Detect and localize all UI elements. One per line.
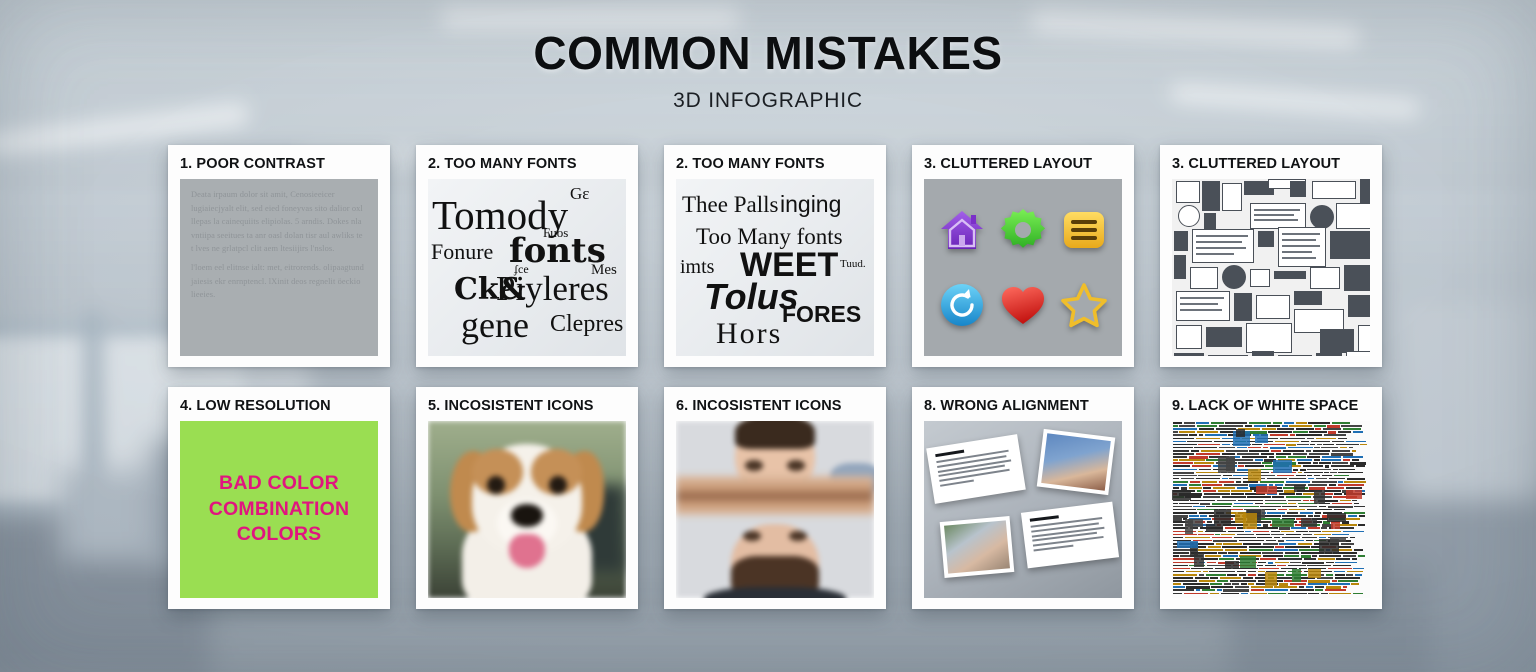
font-word: gene bbox=[461, 307, 529, 343]
font-word: Hors bbox=[716, 319, 782, 349]
dense-text-line bbox=[1282, 506, 1297, 508]
card-title: 2. TOO MANY FONTS bbox=[676, 156, 874, 172]
dense-text-line bbox=[1262, 462, 1272, 464]
dense-text-line bbox=[1318, 558, 1335, 560]
dense-text-line bbox=[1197, 490, 1202, 492]
font-word: Piyleres bbox=[496, 271, 609, 306]
dense-text-line bbox=[1311, 441, 1331, 443]
dense-text-line bbox=[1258, 571, 1265, 573]
dense-text-line bbox=[1315, 428, 1321, 430]
dense-text-line bbox=[1267, 478, 1287, 480]
dense-text-line bbox=[1173, 571, 1184, 573]
wireframe-clutter-canvas bbox=[1172, 179, 1370, 356]
dense-text-line bbox=[1332, 580, 1337, 582]
dense-text-line bbox=[1173, 481, 1188, 483]
card-body bbox=[924, 179, 1122, 356]
dense-text-line bbox=[1249, 422, 1271, 424]
dense-text-line bbox=[1189, 515, 1199, 517]
wire-block bbox=[1316, 353, 1342, 356]
dense-text-line bbox=[1173, 422, 1182, 424]
dense-text-line bbox=[1254, 425, 1266, 427]
dense-text-line bbox=[1209, 571, 1235, 573]
card-body bbox=[676, 421, 874, 598]
dense-text-line bbox=[1253, 531, 1269, 533]
card-incosistent-icons-faces[interactable]: 6. INCOSISTENT ICONS bbox=[664, 387, 886, 609]
dense-text-line bbox=[1191, 450, 1200, 452]
card-body bbox=[924, 421, 1122, 598]
dense-text-line bbox=[1202, 484, 1222, 486]
dense-text-line bbox=[1346, 441, 1367, 443]
star-icon[interactable] bbox=[1060, 281, 1108, 329]
dense-text-line bbox=[1344, 481, 1366, 483]
dense-text-line bbox=[1196, 438, 1220, 440]
dense-text-line bbox=[1301, 441, 1309, 443]
icon-grid bbox=[924, 179, 1122, 356]
wire-box bbox=[1278, 355, 1312, 356]
home-icon[interactable] bbox=[938, 206, 986, 254]
dense-text-line bbox=[1173, 487, 1179, 489]
dense-text-line bbox=[1206, 506, 1231, 508]
dense-text-line bbox=[1298, 543, 1313, 545]
dense-text-line bbox=[1293, 431, 1308, 433]
dense-text-line bbox=[1297, 459, 1312, 461]
dense-text-line bbox=[1196, 543, 1214, 545]
dense-text-line bbox=[1346, 574, 1353, 576]
dense-text-line bbox=[1338, 438, 1347, 440]
dense-text-line bbox=[1173, 453, 1194, 455]
dense-text-line bbox=[1173, 450, 1189, 452]
dense-text-line bbox=[1237, 447, 1247, 449]
dog-tongue bbox=[509, 534, 545, 568]
dense-text-line bbox=[1288, 500, 1302, 502]
card-title: 1. POOR CONTRAST bbox=[180, 156, 378, 172]
dense-text-line bbox=[1286, 540, 1305, 542]
dense-text-line bbox=[1267, 425, 1280, 427]
wire-line bbox=[1282, 233, 1320, 235]
dense-text-line bbox=[1338, 580, 1358, 582]
dense-text-line bbox=[1286, 496, 1311, 498]
dense-text-line bbox=[1218, 490, 1230, 492]
wire-box bbox=[1178, 205, 1200, 227]
dense-text-line bbox=[1236, 481, 1241, 483]
dense-text-line bbox=[1322, 531, 1341, 533]
dense-text-line bbox=[1319, 555, 1341, 557]
dense-text-line bbox=[1212, 537, 1233, 539]
dense-text-line bbox=[1190, 500, 1215, 502]
bad-color-text: BAD COLOR COMBINATION COLORS bbox=[186, 471, 372, 548]
dense-text-line bbox=[1173, 534, 1197, 536]
dense-text-line bbox=[1208, 546, 1221, 548]
font-word: Gɛ bbox=[570, 185, 589, 202]
dense-text-line bbox=[1203, 496, 1220, 498]
dense-text-line bbox=[1198, 531, 1203, 533]
card-too-many-fonts-b[interactable]: 2. TOO MANY FONTS Thee Palls inging Too … bbox=[664, 145, 886, 367]
dense-text-line bbox=[1270, 434, 1288, 436]
wire-line bbox=[1254, 214, 1294, 216]
dense-text-line bbox=[1291, 527, 1306, 529]
eye bbox=[787, 460, 805, 471]
card-title: 9. LACK OF WHITE SPACE bbox=[1172, 398, 1370, 414]
dense-text-line bbox=[1173, 441, 1186, 443]
dense-text-line bbox=[1358, 524, 1365, 526]
dense-text-block bbox=[1327, 513, 1346, 522]
dense-text-line bbox=[1219, 447, 1235, 449]
dense-text-block bbox=[1301, 518, 1317, 527]
dense-text-block bbox=[1294, 485, 1305, 492]
card-wrong-alignment[interactable]: 8. WRONG ALIGNMENT bbox=[912, 387, 1134, 609]
low-contrast-text-block: Deata irpaum dolor sit amit, Cenosieeice… bbox=[180, 179, 378, 356]
dense-text-line bbox=[1199, 580, 1215, 582]
dense-text-line bbox=[1250, 593, 1267, 595]
dense-text-line bbox=[1308, 527, 1320, 529]
dense-text-line bbox=[1352, 459, 1360, 461]
card-low-resolution[interactable]: 4. LOW RESOLUTION BAD COLOR COMBINATION … bbox=[168, 387, 390, 609]
dense-text-line bbox=[1275, 562, 1289, 564]
dense-text-line bbox=[1245, 425, 1253, 427]
dense-text-line bbox=[1338, 431, 1351, 433]
dense-text-line bbox=[1308, 593, 1319, 595]
dense-text-line bbox=[1205, 555, 1222, 557]
dense-text-line bbox=[1173, 512, 1197, 514]
dense-text-line bbox=[1338, 481, 1342, 483]
wire-block bbox=[1274, 271, 1306, 279]
wire-block bbox=[1234, 293, 1252, 321]
dense-text-line bbox=[1338, 546, 1351, 548]
card-body bbox=[1172, 421, 1370, 598]
dense-text-line bbox=[1335, 562, 1356, 564]
dense-text-line bbox=[1238, 465, 1243, 467]
dense-text-block bbox=[1194, 553, 1204, 566]
dense-text-line bbox=[1276, 577, 1292, 579]
wire-panel bbox=[1176, 291, 1230, 321]
dense-text-line bbox=[1218, 552, 1226, 554]
dense-text-line bbox=[1231, 490, 1252, 492]
photo-thumbnail bbox=[1041, 433, 1111, 490]
dense-text-line bbox=[1189, 434, 1197, 436]
dense-text-line bbox=[1196, 422, 1209, 424]
dense-text-line bbox=[1190, 481, 1200, 483]
dense-text-line bbox=[1307, 456, 1320, 458]
eye bbox=[789, 531, 807, 542]
dense-text-line bbox=[1277, 428, 1294, 430]
dense-text-line bbox=[1173, 500, 1189, 502]
dense-text-line bbox=[1213, 487, 1236, 489]
tilted-text-card[interactable] bbox=[1021, 502, 1119, 569]
dense-text-line bbox=[1334, 509, 1345, 511]
dense-text-line bbox=[1278, 558, 1303, 560]
pixelation-layer bbox=[676, 421, 874, 598]
font-chaos-canvas: Thee Palls inging Too Many fonts imts WE… bbox=[676, 179, 874, 356]
dense-text-line bbox=[1290, 589, 1314, 591]
dense-text-block bbox=[1218, 457, 1236, 474]
card-lack-of-white-space[interactable]: 9. LACK OF WHITE SPACE bbox=[1160, 387, 1382, 609]
dense-text-block bbox=[1272, 519, 1294, 527]
wire-block bbox=[1222, 265, 1246, 289]
wire-line bbox=[1180, 297, 1224, 299]
dense-text-line bbox=[1312, 481, 1337, 483]
wire-block bbox=[1174, 255, 1186, 279]
dense-text-line bbox=[1329, 593, 1351, 595]
dense-text-line bbox=[1200, 515, 1207, 517]
dense-text-line bbox=[1199, 512, 1214, 514]
wire-line bbox=[1180, 303, 1218, 305]
dense-text-block bbox=[1314, 490, 1325, 504]
dense-text-line bbox=[1173, 428, 1197, 430]
dense-text-line bbox=[1306, 540, 1313, 542]
dense-text-line bbox=[1261, 478, 1266, 480]
dense-text-line bbox=[1314, 459, 1320, 461]
dense-text-line bbox=[1274, 537, 1280, 539]
dense-text-line bbox=[1223, 555, 1238, 557]
dense-text-block bbox=[1330, 537, 1346, 543]
dense-text-line bbox=[1275, 546, 1284, 548]
dense-text-line bbox=[1173, 484, 1187, 486]
dense-text-line bbox=[1309, 431, 1326, 433]
card-body bbox=[428, 421, 626, 598]
dense-text-line bbox=[1307, 565, 1331, 567]
wire-box bbox=[1336, 203, 1370, 229]
dense-text-line bbox=[1330, 472, 1336, 474]
dense-text-line bbox=[1229, 478, 1241, 480]
dense-text-line bbox=[1281, 531, 1294, 533]
card-title: 6. INCOSISTENT ICONS bbox=[676, 398, 874, 414]
dense-text-line bbox=[1282, 515, 1306, 517]
wire-line bbox=[1282, 239, 1316, 241]
dense-text-line bbox=[1248, 571, 1257, 573]
dense-text-line bbox=[1260, 481, 1284, 483]
dense-text-line bbox=[1314, 475, 1320, 477]
dense-text-line bbox=[1323, 428, 1341, 430]
font-word: inging bbox=[780, 193, 841, 216]
dense-text-line bbox=[1324, 490, 1341, 492]
tilted-text-card[interactable] bbox=[926, 434, 1026, 504]
dense-text-line bbox=[1263, 447, 1269, 449]
dense-text-line bbox=[1327, 487, 1344, 489]
photo-thumbnail bbox=[944, 520, 1010, 573]
dense-text-line bbox=[1335, 577, 1361, 579]
dense-text-line bbox=[1309, 531, 1320, 533]
menu-icon[interactable] bbox=[1060, 206, 1108, 254]
dense-text-line bbox=[1353, 431, 1364, 433]
dense-text-line bbox=[1321, 447, 1338, 449]
dense-text-line bbox=[1268, 593, 1286, 595]
page-title: COMMON MISTAKES bbox=[0, 26, 1536, 80]
dense-text-line bbox=[1227, 574, 1237, 576]
dense-text-line bbox=[1222, 478, 1228, 480]
dense-text-line bbox=[1315, 512, 1321, 514]
font-word: Thee Palls bbox=[682, 193, 778, 216]
wire-box bbox=[1256, 295, 1290, 319]
dense-text-line bbox=[1199, 428, 1214, 430]
dense-text-line bbox=[1360, 444, 1367, 446]
dense-text-line bbox=[1308, 478, 1315, 480]
distortion-smear bbox=[676, 476, 874, 515]
dense-text-line bbox=[1282, 537, 1300, 539]
dense-text-line bbox=[1296, 475, 1306, 477]
wire-line bbox=[1196, 253, 1234, 255]
card-cluttered-layout-icons[interactable]: 3. CLUTTERED LAYOUT bbox=[912, 145, 1134, 367]
dense-text-line bbox=[1277, 475, 1295, 477]
dense-text-line bbox=[1215, 534, 1219, 536]
wire-block bbox=[1290, 181, 1306, 197]
dense-text-line bbox=[1290, 434, 1295, 436]
dense-text-line bbox=[1312, 555, 1317, 557]
dense-text-line bbox=[1266, 540, 1277, 542]
dense-text-line bbox=[1237, 534, 1254, 536]
font-word: imts bbox=[680, 257, 714, 277]
dense-text-line bbox=[1316, 478, 1327, 480]
dog-nose bbox=[511, 504, 543, 527]
dense-text-line bbox=[1268, 431, 1291, 433]
dense-text-line bbox=[1179, 431, 1195, 433]
dense-text-line bbox=[1262, 552, 1283, 554]
dense-text-line bbox=[1193, 506, 1205, 508]
font-word: Clepres bbox=[550, 312, 623, 336]
dense-text-line bbox=[1328, 568, 1352, 570]
font-word: Too Many fonts bbox=[696, 225, 843, 248]
card-poor-contrast[interactable]: 1. POOR CONTRAST Deata irpaum dolor sit … bbox=[168, 145, 390, 367]
dense-text-line bbox=[1333, 469, 1338, 471]
dense-text-line bbox=[1314, 447, 1319, 449]
dense-text-line bbox=[1326, 574, 1334, 576]
dense-text-line bbox=[1173, 425, 1178, 427]
wire-line bbox=[1282, 251, 1312, 253]
dense-text-line bbox=[1173, 469, 1197, 471]
bad-color-swatch: BAD COLOR COMBINATION COLORS bbox=[180, 421, 378, 598]
dense-text-line bbox=[1343, 531, 1364, 533]
dense-text-line bbox=[1304, 472, 1323, 474]
dense-text-line bbox=[1286, 481, 1310, 483]
wire-box bbox=[1176, 181, 1200, 203]
dense-text-line bbox=[1326, 562, 1334, 564]
dense-text-line bbox=[1238, 462, 1260, 464]
card-cluttered-layout-wireframe[interactable]: 3. CLUTTERED LAYOUT bbox=[1160, 145, 1382, 367]
dense-text-block bbox=[1331, 522, 1340, 528]
dense-text-line bbox=[1293, 453, 1307, 455]
wire-panel bbox=[1250, 203, 1306, 229]
pixelated-dog-photo bbox=[428, 421, 626, 598]
dense-text-line bbox=[1307, 469, 1331, 471]
dense-text-line bbox=[1338, 484, 1364, 486]
dense-text-line bbox=[1185, 537, 1211, 539]
refresh-icon[interactable] bbox=[938, 281, 986, 329]
dense-text-line bbox=[1210, 577, 1218, 579]
dense-text-line bbox=[1189, 484, 1201, 486]
dense-text-line bbox=[1238, 500, 1263, 502]
dense-text-line bbox=[1224, 583, 1231, 585]
dense-text-line bbox=[1276, 456, 1287, 458]
gear-icon[interactable] bbox=[999, 206, 1047, 254]
dense-text-line bbox=[1284, 555, 1299, 557]
pixelation-layer bbox=[428, 421, 626, 598]
dense-text-line bbox=[1291, 465, 1302, 467]
tilted-photo-card[interactable] bbox=[940, 516, 1015, 578]
wire-line bbox=[1282, 245, 1320, 247]
dense-text-line bbox=[1269, 456, 1274, 458]
wire-line bbox=[1254, 209, 1300, 211]
dense-text-block bbox=[1206, 524, 1223, 532]
dense-text-line bbox=[1173, 568, 1190, 570]
dense-text-line bbox=[1235, 586, 1249, 588]
card-incosistent-icons-dog[interactable]: 5. INCOSISTENT ICONS bbox=[416, 387, 638, 609]
dense-text-line bbox=[1284, 422, 1294, 424]
dense-text-line bbox=[1359, 515, 1365, 517]
dense-text-block bbox=[1243, 513, 1257, 529]
dense-text-line bbox=[1347, 571, 1363, 573]
dense-text-line bbox=[1287, 512, 1298, 514]
heart-icon[interactable] bbox=[999, 281, 1047, 329]
dense-text-line bbox=[1245, 531, 1251, 533]
dense-text-line bbox=[1271, 534, 1284, 536]
dense-text-line bbox=[1223, 475, 1232, 477]
dense-text-block bbox=[1172, 490, 1190, 499]
dense-text-line bbox=[1339, 469, 1354, 471]
dense-text-line bbox=[1262, 428, 1276, 430]
dense-text-line bbox=[1329, 478, 1345, 480]
dense-text-line bbox=[1299, 586, 1304, 588]
dense-text-line bbox=[1310, 444, 1315, 446]
wire-box bbox=[1310, 267, 1340, 289]
dense-text-line bbox=[1255, 459, 1263, 461]
dense-text-line bbox=[1222, 546, 1247, 548]
dense-text-line bbox=[1274, 586, 1297, 588]
card-too-many-fonts-a[interactable]: 2. TOO MANY FONTS Tomody Gɛ Fuos Fonure … bbox=[416, 145, 638, 367]
dense-text-line bbox=[1280, 438, 1305, 440]
dense-text-line bbox=[1302, 537, 1318, 539]
dense-text-line bbox=[1173, 580, 1197, 582]
dense-text-line bbox=[1217, 589, 1222, 591]
dense-text-line bbox=[1196, 453, 1220, 455]
dense-text-line bbox=[1336, 444, 1359, 446]
wire-block bbox=[1202, 181, 1220, 211]
dense-text-line bbox=[1303, 500, 1309, 502]
dense-text-line bbox=[1247, 496, 1270, 498]
dense-text-line bbox=[1267, 512, 1285, 514]
hair-top bbox=[735, 421, 814, 449]
infographic-header: COMMON MISTAKES 3D INFOGRAPHIC bbox=[0, 26, 1536, 113]
tilt-heading bbox=[1030, 515, 1059, 522]
dense-text-line bbox=[1205, 434, 1227, 436]
dense-text-line bbox=[1222, 444, 1230, 446]
dense-text-line bbox=[1194, 447, 1217, 449]
dense-text-block bbox=[1346, 490, 1362, 500]
tilted-photo-card[interactable] bbox=[1037, 429, 1116, 495]
dense-text-line bbox=[1173, 503, 1178, 505]
dense-text-line bbox=[1179, 459, 1205, 461]
shirt bbox=[704, 587, 847, 598]
dense-text-line bbox=[1237, 453, 1259, 455]
dense-text-line bbox=[1340, 447, 1348, 449]
dense-text-line bbox=[1308, 422, 1330, 424]
dense-text-line bbox=[1228, 531, 1244, 533]
dense-text-line bbox=[1324, 472, 1328, 474]
dense-text-line bbox=[1237, 487, 1248, 489]
dense-text-line bbox=[1220, 577, 1241, 579]
dense-text-line bbox=[1289, 509, 1305, 511]
dense-text-line bbox=[1315, 586, 1325, 588]
dense-text-line bbox=[1356, 465, 1366, 467]
dense-text-line bbox=[1191, 568, 1213, 570]
dense-text-line bbox=[1216, 543, 1222, 545]
dense-text-line bbox=[1228, 552, 1238, 554]
dense-text-line bbox=[1332, 503, 1352, 505]
dense-text-line bbox=[1203, 490, 1216, 492]
wire-block bbox=[1206, 327, 1242, 347]
dense-text-line bbox=[1332, 534, 1349, 536]
dense-text-block bbox=[1265, 572, 1277, 586]
dense-text-line bbox=[1352, 450, 1356, 452]
dense-text-line bbox=[1348, 515, 1357, 517]
